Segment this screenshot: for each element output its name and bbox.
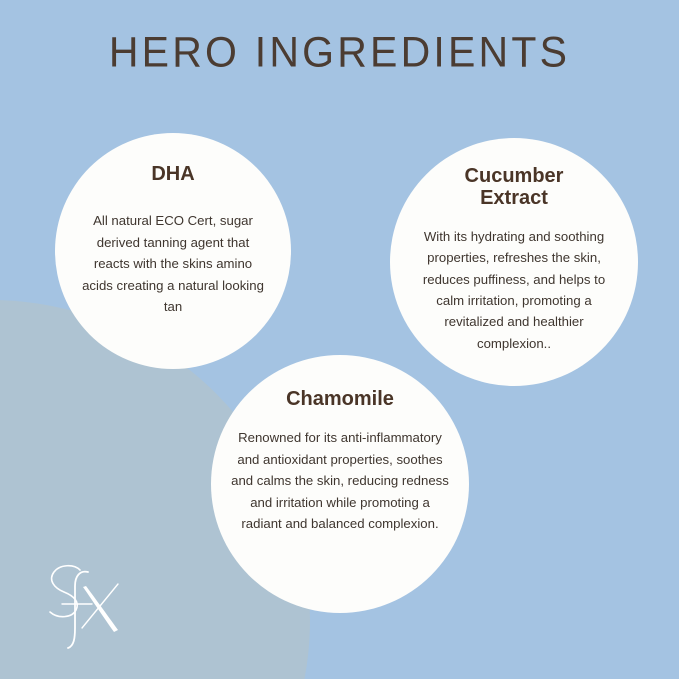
- ingredient-circle-chamomile: Chamomile Renowned for its anti-inflamma…: [211, 355, 469, 613]
- ingredient-title-dha: DHA: [151, 163, 194, 185]
- ingredient-title-cucumber: Cucumber Extract: [439, 165, 589, 210]
- sfx-logo-icon: [38, 560, 138, 652]
- poster-canvas: HERO INGREDIENTS DHA All natural ECO Cer…: [0, 0, 679, 679]
- ingredient-description-dha: All natural ECO Cert, sugar derived tann…: [80, 210, 266, 317]
- ingredient-circle-dha: DHA All natural ECO Cert, sugar derived …: [55, 133, 291, 369]
- ingredient-title-chamomile: Chamomile: [286, 388, 394, 410]
- ingredient-description-cucumber: With its hydrating and soothing properti…: [411, 226, 617, 354]
- page-title: HERO INGREDIENTS: [0, 28, 679, 77]
- sfx-monogram-icon: [38, 560, 138, 652]
- ingredient-description-chamomile: Renowned for its anti-inflammatory and a…: [229, 427, 451, 534]
- ingredient-circle-cucumber: Cucumber Extract With its hydrating and …: [390, 138, 638, 386]
